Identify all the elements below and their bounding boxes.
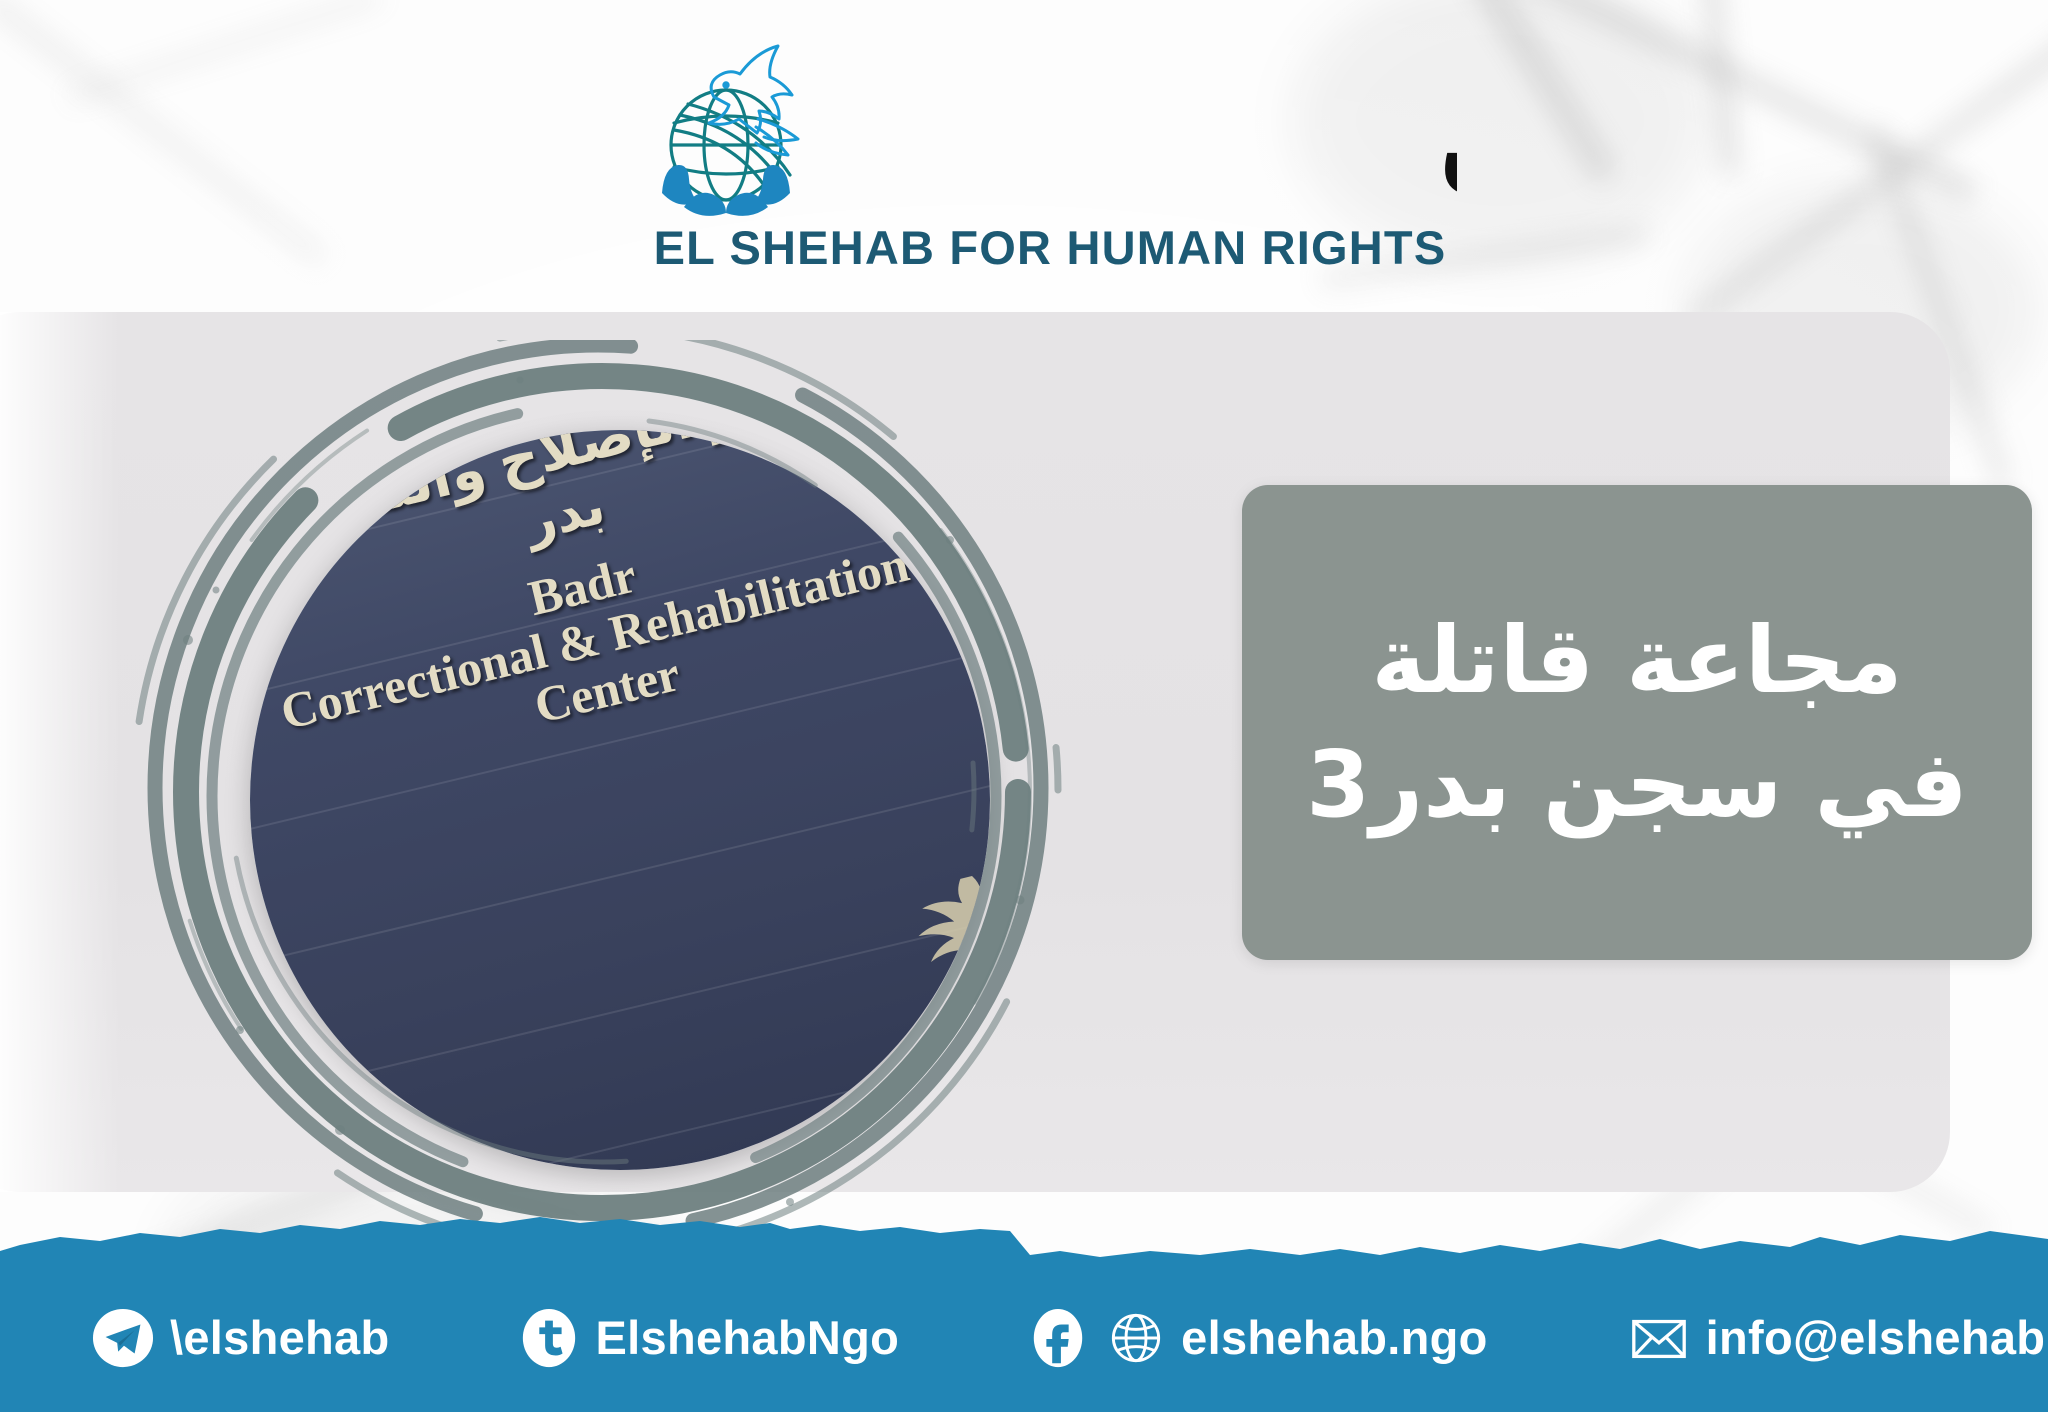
photo-zone: مركز الإصلاح والتأهيل بدر Badr Correctio… (60, 320, 1140, 1260)
dove-icon (709, 46, 798, 155)
footer-label-telegram: \elshehab (170, 1310, 390, 1365)
telegram-icon (92, 1307, 154, 1369)
headline-line-2: في سجن بدر3 (1306, 723, 1968, 846)
footer-link-website[interactable]: elshehab.ngo (1027, 1307, 1488, 1369)
brush-ring-frame (90, 340, 1110, 1240)
email-icon (1628, 1307, 1690, 1369)
footer-link-telegram[interactable]: \elshehab (92, 1307, 390, 1369)
footer-link-twitter[interactable]: ElshehabNgo (518, 1307, 900, 1369)
logo-mark (644, 35, 819, 230)
footer-label-twitter: ElshehabNgo (596, 1310, 900, 1365)
organization-logo[interactable]: الشهاب لحقوق الإنسان EL SHEHAB FOR HUMAN… (640, 30, 1460, 280)
headline-box: مجاعة قاتلة في سجن بدر3 (1242, 485, 2032, 960)
logo-arabic-name: الشهاب لحقوق الإنسان (837, 51, 1457, 226)
globe-icon (1107, 1309, 1165, 1367)
facebook-icon (1027, 1307, 1089, 1369)
footer-link-email[interactable]: info@elshehab.ngo (1628, 1307, 2048, 1369)
footer-label-website: elshehab.ngo (1181, 1310, 1488, 1365)
poster-canvas: الشهاب لحقوق الإنسان EL SHEHAB FOR HUMAN… (0, 0, 2048, 1412)
footer-torn-edge (0, 1205, 2048, 1265)
logo-arabic-text: الشهاب لحقوق الإنسان (1438, 77, 1457, 205)
headline-line-1: مجاعة قاتلة (1371, 599, 1902, 722)
footer-label-email: info@elshehab.ngo (1706, 1310, 2048, 1365)
footer: \elshehab ElshehabNgo (0, 1247, 2048, 1412)
header: الشهاب لحقوق الإنسان EL SHEHAB FOR HUMAN… (0, 0, 2048, 300)
footer-links: \elshehab ElshehabNgo (0, 1263, 2048, 1412)
twitter-icon (518, 1307, 580, 1369)
logo-english-name: EL SHEHAB FOR HUMAN RIGHTS (654, 224, 1447, 271)
